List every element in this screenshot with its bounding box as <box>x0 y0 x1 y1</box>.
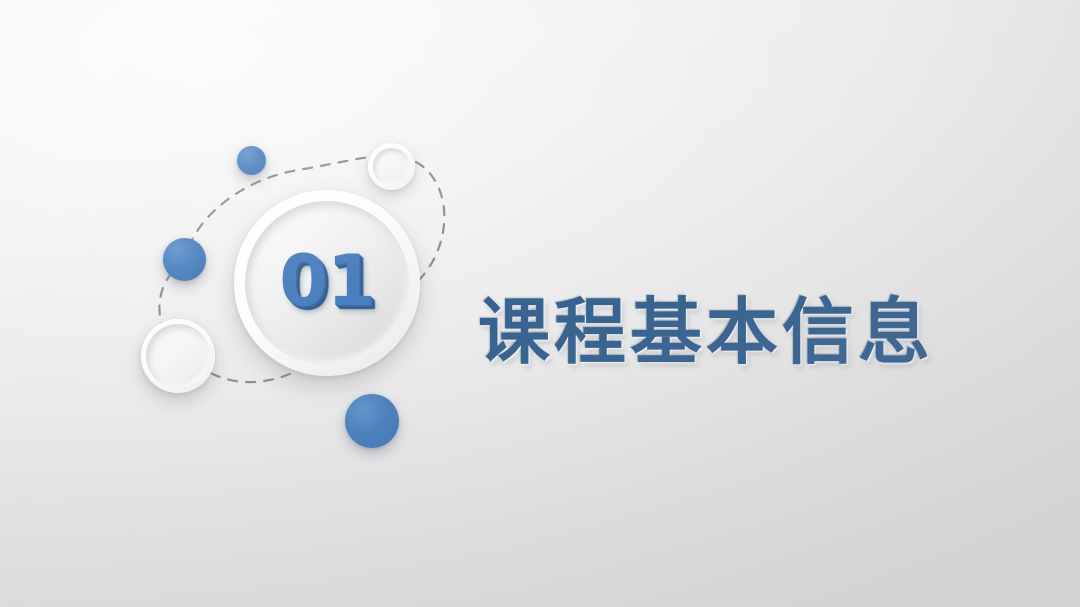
blue-dot-left <box>163 238 206 281</box>
orbit-circles-infographic: 01 <box>130 118 490 486</box>
white-disc-bottom-left <box>141 319 215 393</box>
blue-dot-top <box>237 146 266 175</box>
white-disc-bottom-left-inner <box>146 324 210 388</box>
blue-dot-bottom <box>345 394 399 448</box>
white-ring-top-right-inner <box>373 148 410 185</box>
main-number-circle-inner: 01 <box>245 201 409 365</box>
main-number-circle: 01 <box>234 190 420 376</box>
white-ring-top-right <box>368 143 415 190</box>
section-title: 课程基本信息 <box>478 296 934 368</box>
section-number: 01 <box>279 246 374 316</box>
slide-canvas: 01 课程基本信息 <box>0 0 1080 607</box>
